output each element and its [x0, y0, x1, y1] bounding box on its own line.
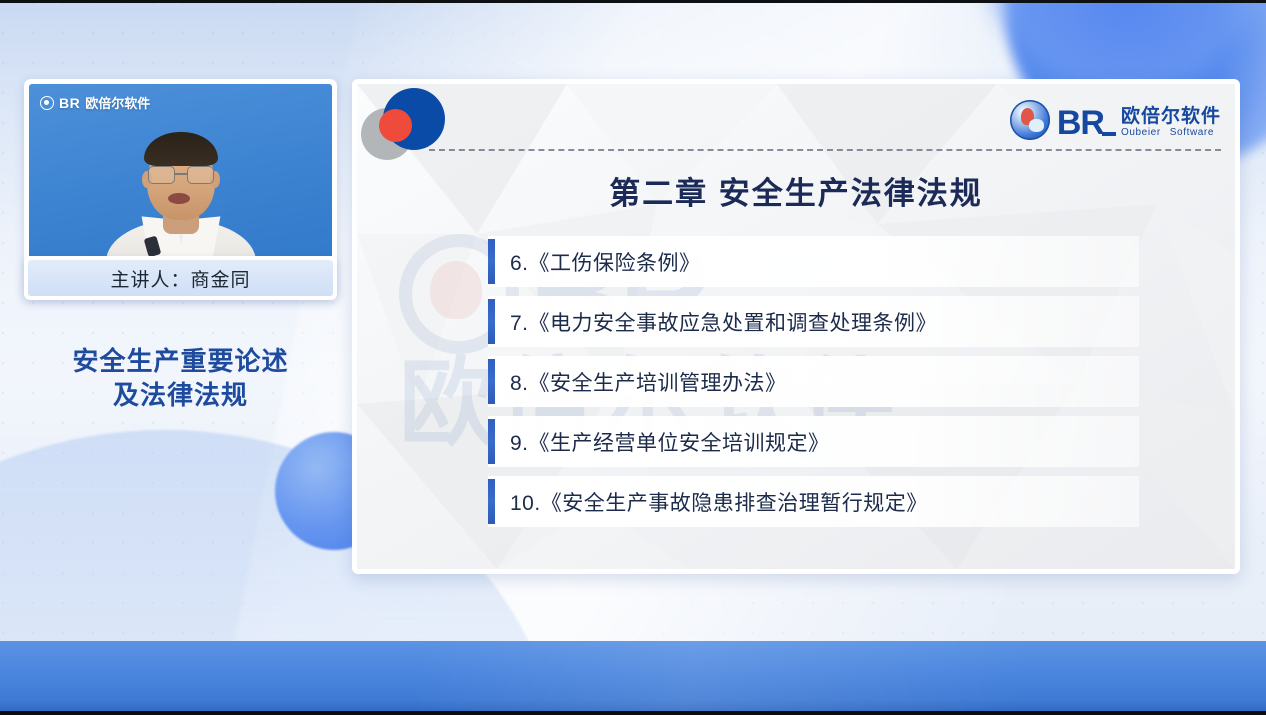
video-logo-cn: 欧倍尔软件 [85, 93, 150, 112]
glasses-bridge [175, 173, 187, 175]
list-item-accent-bar [488, 359, 495, 404]
presenter-glasses [147, 166, 215, 184]
slide-logo-en: Oubeier Software [1121, 127, 1221, 138]
slide-logo-en-1: Oubeier [1121, 127, 1161, 138]
player-stage: BR 欧倍尔软件 主讲人：商金同 安全生产重要论述 及法律法规 [0, 0, 1266, 715]
bottom-edge-bar [0, 711, 1266, 715]
list-item[interactable]: 9.《生产经营单位安全培训规定》 [488, 416, 1139, 467]
glasses-lens-left [148, 166, 175, 184]
slide-list: 6.《工伤保险条例》 7.《电力安全事故应急处置和调查处理条例》 8.《安全生产… [488, 236, 1139, 527]
list-item-accent-bar [488, 419, 495, 464]
list-item-label: 6.《工伤保险条例》 [510, 247, 701, 277]
slide-logo-br: BR [1057, 107, 1114, 140]
slide-logo-cn: 欧倍尔软件 [1121, 107, 1221, 127]
presenter-name: 主讲人：商金同 [28, 260, 333, 296]
list-item-label: 9.《生产经营单位安全培训规定》 [510, 427, 830, 457]
list-item[interactable]: 6.《工伤保险条例》 [488, 236, 1139, 287]
slide-logo-en-2: Software [1170, 127, 1214, 138]
slide-brand-logo: BR 欧倍尔软件 Oubeier Software [1010, 100, 1221, 140]
video-watermark-logo: BR 欧倍尔软件 [40, 93, 150, 112]
slide-surface: BR 欧倍尔软件 BR 欧倍尔软件 Oubeier Software [357, 84, 1235, 569]
course-title-line-1: 安全生产重要论述 [24, 344, 337, 378]
presenter-mouth [168, 193, 190, 204]
list-item[interactable]: 8.《安全生产培训管理办法》 [488, 356, 1139, 407]
list-item-accent-bar [488, 479, 495, 524]
list-item-label: 7.《电力安全事故应急处置和调查处理条例》 [510, 307, 937, 337]
decoration-circle-red [379, 109, 412, 142]
br-circle-icon [40, 96, 54, 110]
list-item[interactable]: 7.《电力安全事故应急处置和调查处理条例》 [488, 296, 1139, 347]
presenter-hair [144, 132, 218, 166]
background-bottom-band [0, 641, 1266, 715]
list-item-accent-bar [488, 299, 495, 344]
slide-card[interactable]: BR 欧倍尔软件 BR 欧倍尔软件 Oubeier Software [352, 79, 1240, 574]
glasses-lens-right [187, 166, 214, 184]
course-title: 安全生产重要论述 及法律法规 [24, 344, 337, 412]
course-title-line-2: 及法律法规 [24, 378, 337, 412]
slide-dashed-divider [429, 149, 1221, 151]
globe-icon [1010, 100, 1050, 140]
slide-title: 第二章 安全生产法律法规 [357, 168, 1235, 213]
band-streak [420, 641, 1020, 715]
list-item[interactable]: 10.《安全生产事故隐患排查治理暂行规定》 [488, 476, 1139, 527]
presenter-caption-bar: 主讲人：商金同 [24, 256, 337, 300]
top-edge-bar [0, 0, 1266, 3]
list-item-label: 8.《安全生产培训管理办法》 [510, 367, 787, 397]
list-item-accent-bar [488, 239, 495, 284]
video-logo-br: BR [59, 95, 80, 111]
list-item-label: 10.《安全生产事故隐患排查治理暂行规定》 [510, 487, 928, 517]
slide-logo-text: 欧倍尔软件 Oubeier Software [1121, 107, 1221, 138]
